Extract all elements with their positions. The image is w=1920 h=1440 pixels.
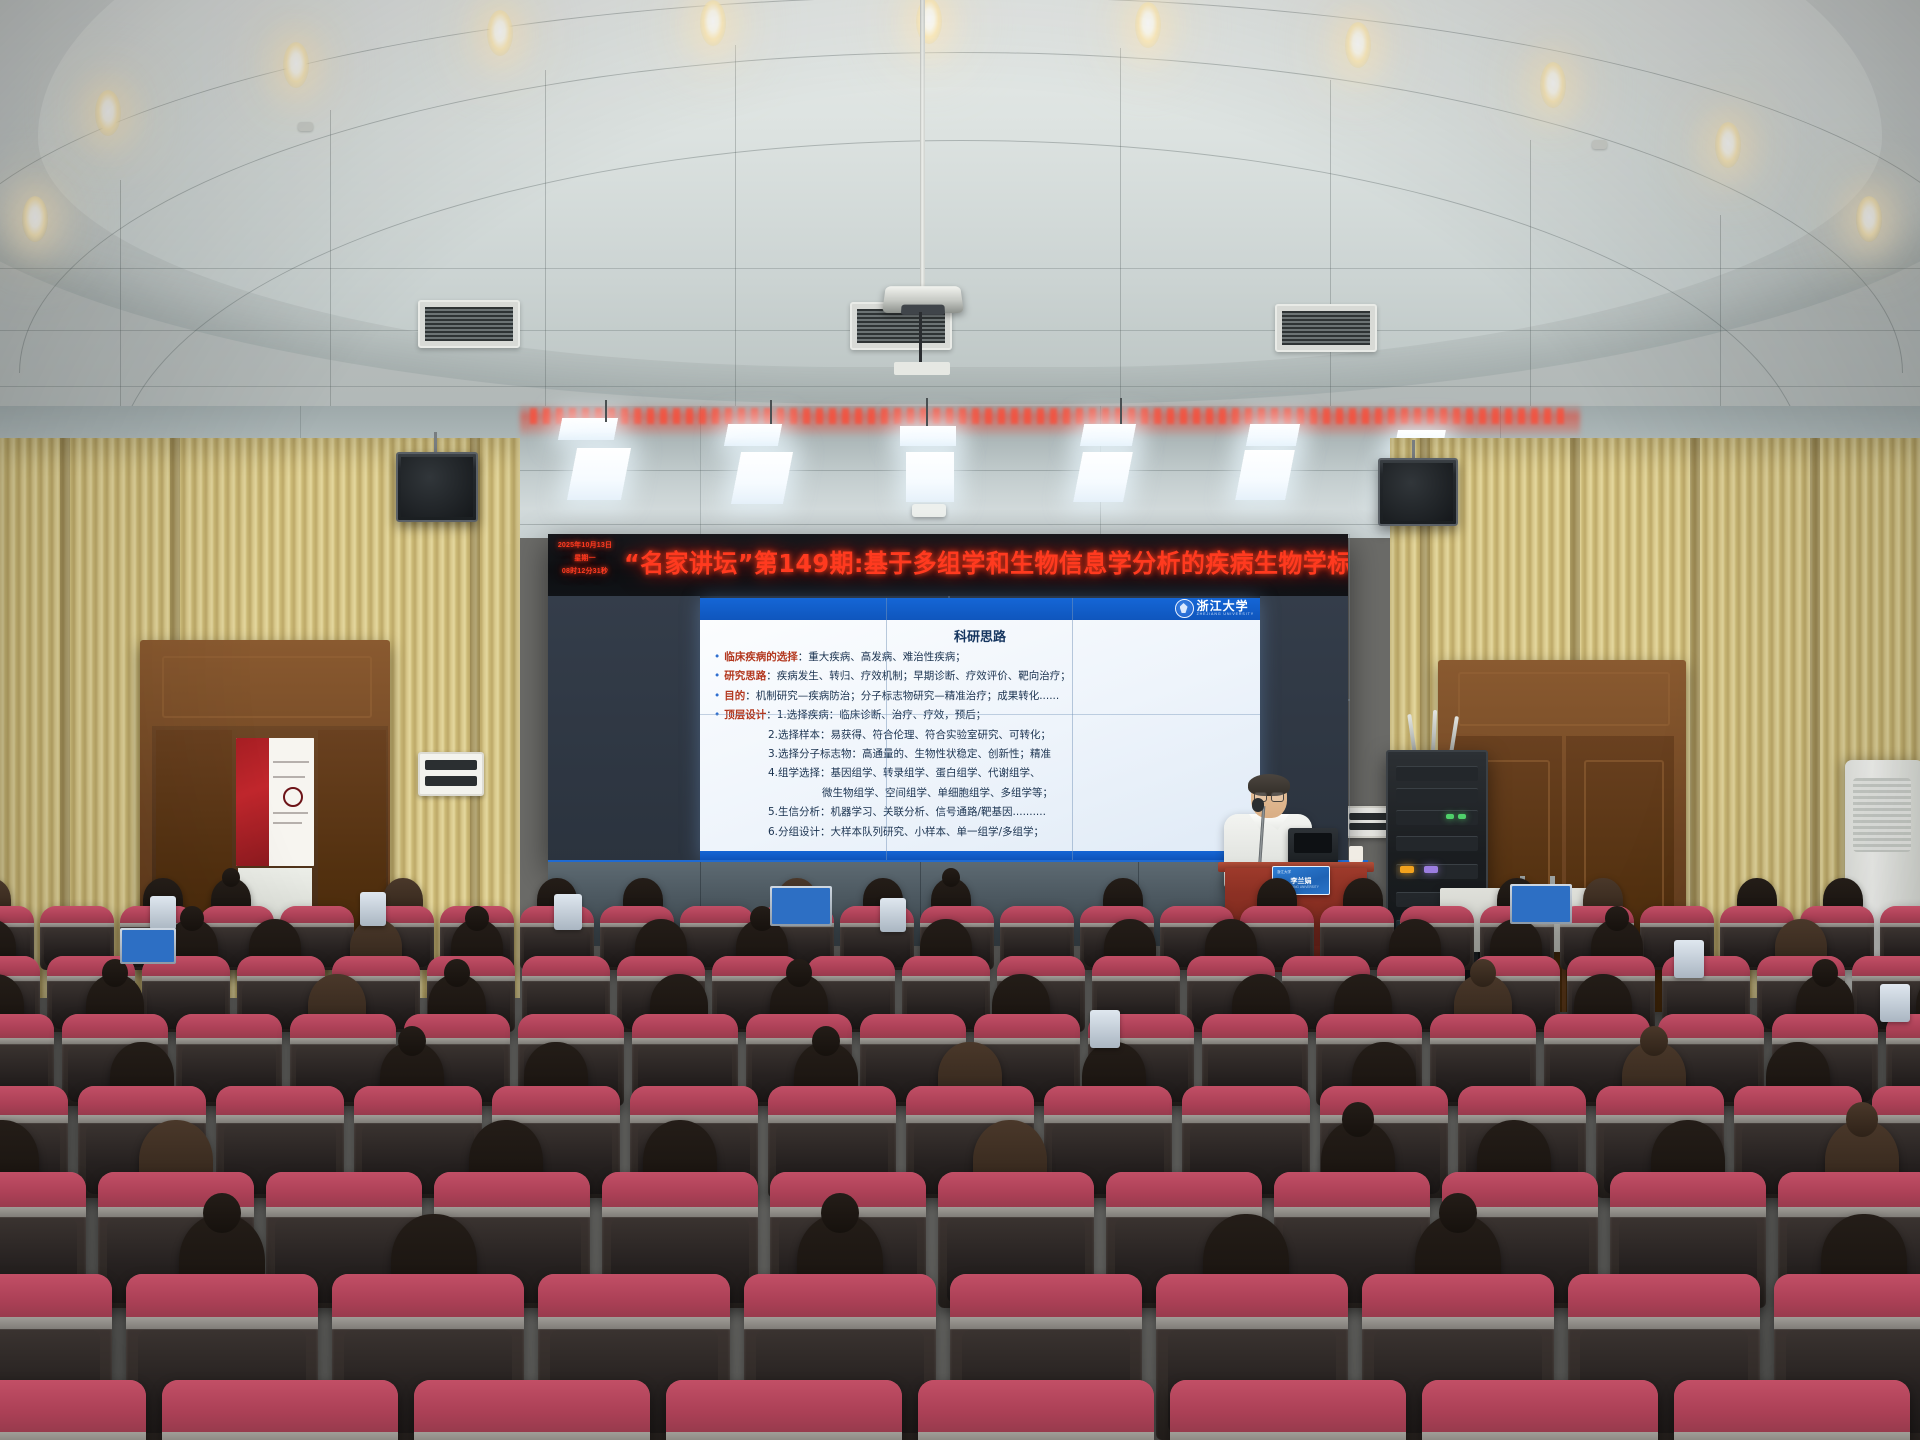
name-card-org: 浙江大学 (1277, 870, 1291, 875)
ceiling-spotlight (1856, 196, 1882, 242)
slide-bullet-8: 5.生信分析：机器学习、关联分析、信号通路/靶基因.......... (714, 803, 1250, 822)
audience-phone[interactable] (1674, 940, 1704, 978)
projector-mount-pole (920, 0, 925, 290)
projector-stem (919, 312, 922, 366)
ceiling-spotlight (1715, 122, 1741, 168)
ceiling (0, 0, 1920, 470)
audience-laptop[interactable] (120, 928, 176, 964)
ceiling-air-vent (1275, 304, 1377, 352)
lamp-cable (605, 400, 607, 422)
ceiling-light-panel (567, 448, 631, 500)
audience-phone[interactable] (1880, 984, 1910, 1022)
right-door-transom-inset (1458, 672, 1670, 726)
ceiling-light-panel (731, 452, 793, 504)
slide-bullet-5: 3.选择分子标志物：高通量的、生物性状稳定、创新性；精准 (714, 745, 1250, 764)
auditorium-seat[interactable] (1674, 1380, 1910, 1440)
ceiling-light-panel (906, 452, 954, 502)
slide-header-bar: 浙江大学 ZHEJIANG UNIVERSITY (700, 598, 1260, 620)
ceiling-light-panel (1235, 450, 1295, 500)
video-wall-idle-panel-left (548, 596, 700, 864)
ceiling-spotlight (700, 0, 726, 46)
smoke-detector-icon (1592, 140, 1607, 149)
ceiling-grid-line (0, 268, 1920, 269)
presentation-slide: 浙江大学 ZHEJIANG UNIVERSITY 科研思路 •临床疾病的选择：重… (700, 598, 1260, 860)
slide-title: 科研思路 (700, 626, 1260, 645)
ceiling-light-panel (900, 426, 956, 446)
audience-phone[interactable] (360, 892, 386, 926)
led-banner-date: 2025年10月13日 星期一 08时12分31秒 (554, 539, 616, 591)
rack-status-led (1400, 866, 1414, 873)
left-door-transom-inset (162, 656, 372, 718)
auditorium-seat[interactable] (918, 1380, 1154, 1440)
ceiling-spotlight (22, 196, 48, 242)
ceiling-grid-line (0, 330, 1920, 331)
audience-phone[interactable] (880, 898, 906, 932)
slide-bullet-7: 微生物组学、空间组学、单细胞组学、多组学等； (714, 784, 1250, 803)
ceiling-light-panel (558, 418, 618, 440)
slide-bullet-4: 2.选择样本：易获得、符合伦理、符合实验室研究、可转化； (714, 726, 1250, 745)
auditorium-seat[interactable] (162, 1380, 398, 1440)
corridor-poster (236, 738, 314, 866)
wall-speaker-right (1378, 458, 1458, 526)
audience-phone[interactable] (1090, 1010, 1120, 1048)
slide-bullet-3: •顶层设计：1.选择疾病：临床诊断、治疗、疗效，预后； (714, 706, 1250, 725)
wall-speaker-left (396, 452, 478, 522)
lamp-cable (926, 398, 928, 426)
slide-bullet-0: •临床疾病的选择：重大疾病、高发病、难治性疾病； (714, 648, 1250, 667)
ceiling-spotlight (1345, 22, 1371, 68)
audience-laptop[interactable] (770, 886, 832, 926)
ceiling-light-panel (1073, 452, 1133, 502)
ceiling-spotlight (1135, 2, 1161, 48)
podium-monitor[interactable] (1288, 828, 1338, 864)
ceiling-air-vent (418, 300, 520, 348)
speaker-bracket (1412, 440, 1415, 460)
led-ticker-pixels (530, 408, 1570, 424)
ceiling-light-panel (1246, 424, 1300, 446)
auditorium-seat[interactable] (1422, 1380, 1658, 1440)
ceiling-projector (882, 286, 964, 313)
slide-bullet-1: •研究思路：疾病发生、转归、疗效机制；早期诊断、疗效评价、靶向治疗； (714, 667, 1250, 686)
podium-microphone-head (1252, 798, 1264, 812)
zhejiang-university-logo: 浙江大学 ZHEJIANG UNIVERSITY (1175, 599, 1254, 618)
ceiling-spotlight (95, 90, 121, 136)
slide-brand-en: ZHEJIANG UNIVERSITY (1197, 612, 1254, 617)
pendant-lamp-housing (912, 504, 946, 517)
auditorium-seat[interactable] (666, 1380, 902, 1440)
audience-phone[interactable] (150, 896, 176, 930)
auditorium-seat[interactable] (414, 1380, 650, 1440)
ceiling-light-panel (1080, 424, 1136, 446)
auditorium-seat[interactable] (0, 1380, 146, 1440)
auditorium-seat[interactable] (1170, 1380, 1406, 1440)
led-banner: 2025年10月13日 星期一 08时12分31秒 “名家讲坛”第149期:基于… (548, 534, 1348, 596)
lamp-cable (1120, 398, 1122, 424)
slide-bullet-list: •临床疾病的选择：重大疾病、高发病、难治性疾病；•研究思路：疾病发生、转归、疗效… (714, 648, 1250, 842)
smoke-detector-icon (298, 122, 313, 131)
lecture-hall-photo: 2025年10月13日 星期一 08时12分31秒 “名家讲坛”第149期:基于… (0, 0, 1920, 1440)
slide-bullet-2: •目的：机制研究—疾病防治；分子标志物研究—精准治疗；成果转化...... (714, 687, 1250, 706)
ceiling-spotlight (283, 42, 309, 88)
audience-phone[interactable] (554, 894, 582, 930)
ceiling-spotlight (1540, 62, 1566, 108)
ceiling-spotlight (487, 10, 513, 56)
slide-brand-cn: 浙江大学 (1197, 601, 1254, 612)
audience-laptop[interactable] (1510, 884, 1572, 924)
slide-bullet-9: 6.分组设计：大样本队列研究、小样本、单一组学/多组学； (714, 823, 1250, 842)
rack-status-led (1424, 866, 1438, 873)
rack-status-led (1458, 814, 1466, 819)
projector-base (894, 362, 950, 375)
lamp-cable (770, 400, 772, 424)
audience-seating (0, 910, 1920, 1440)
zhejiang-university-crest-icon (1175, 599, 1194, 618)
rack-status-led (1446, 814, 1454, 819)
slide-bullet-6: 4.组学选择：基因组学、转录组学、蛋白组学、代谢组学、 (714, 764, 1250, 783)
ceiling-light-panel (724, 424, 782, 446)
ceiling-grid-line (0, 386, 1920, 387)
slide-footer-bar (700, 851, 1260, 860)
wall-electrical-box-left (418, 752, 484, 796)
speaker-bracket (434, 432, 437, 454)
led-banner-title: “名家讲坛”第149期:基于多组学和生物信息学分析的疾病生物学标志物研究 (624, 543, 1313, 585)
